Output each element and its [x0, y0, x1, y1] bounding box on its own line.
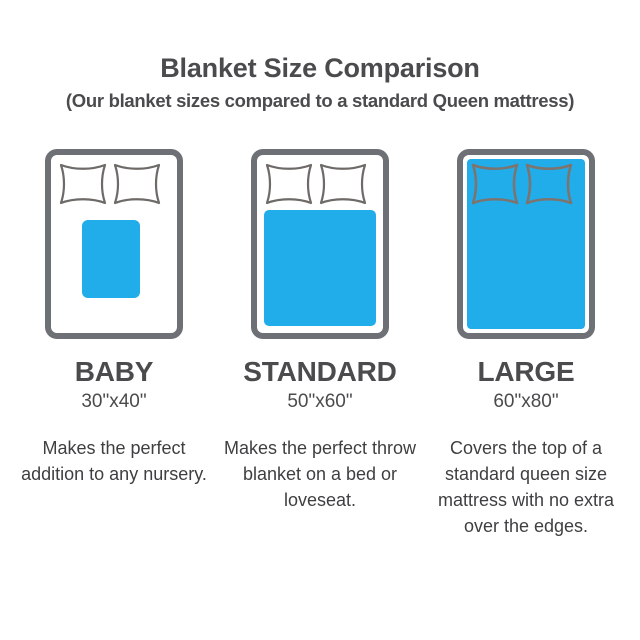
size-column-large: LARGE 60"x80" Covers the top of a standa…	[426, 146, 626, 539]
pillow-right-icon	[321, 165, 365, 203]
size-column-baby: BABY 30"x40" Makes the perfect addition …	[14, 146, 214, 539]
header: Blanket Size Comparison (Our blanket siz…	[0, 52, 640, 112]
blanket-overlay-baby	[82, 220, 140, 298]
size-description-baby: Makes the perfect addition to any nurser…	[17, 435, 212, 487]
infographic-root: Blanket Size Comparison (Our blanket siz…	[0, 0, 640, 640]
size-name-large: LARGE	[477, 356, 574, 388]
size-description-large: Covers the top of a standard queen size …	[429, 435, 624, 539]
size-column-standard: STANDARD 50"x60" Makes the perfect throw…	[220, 146, 420, 539]
page-subtitle: (Our blanket sizes compared to a standar…	[0, 90, 640, 112]
blanket-overlay-standard	[264, 210, 376, 326]
size-dimensions-standard: 50"x60"	[287, 391, 352, 413]
size-dimensions-large: 60"x80"	[493, 391, 558, 413]
size-description-standard: Makes the perfect throw blanket on a bed…	[223, 435, 418, 513]
bed-diagram-baby	[44, 146, 184, 342]
page-title: Blanket Size Comparison	[0, 52, 640, 84]
pillow-left-icon	[267, 165, 311, 203]
bed-diagram-large	[456, 146, 596, 342]
size-dimensions-baby: 30"x40"	[81, 391, 146, 413]
pillow-left-icon	[61, 165, 105, 203]
size-name-baby: BABY	[75, 356, 154, 388]
pillow-right-icon	[115, 165, 159, 203]
bed-diagram-standard	[250, 146, 390, 342]
size-name-standard: STANDARD	[243, 356, 396, 388]
size-comparison-columns: BABY 30"x40" Makes the perfect addition …	[0, 146, 640, 539]
